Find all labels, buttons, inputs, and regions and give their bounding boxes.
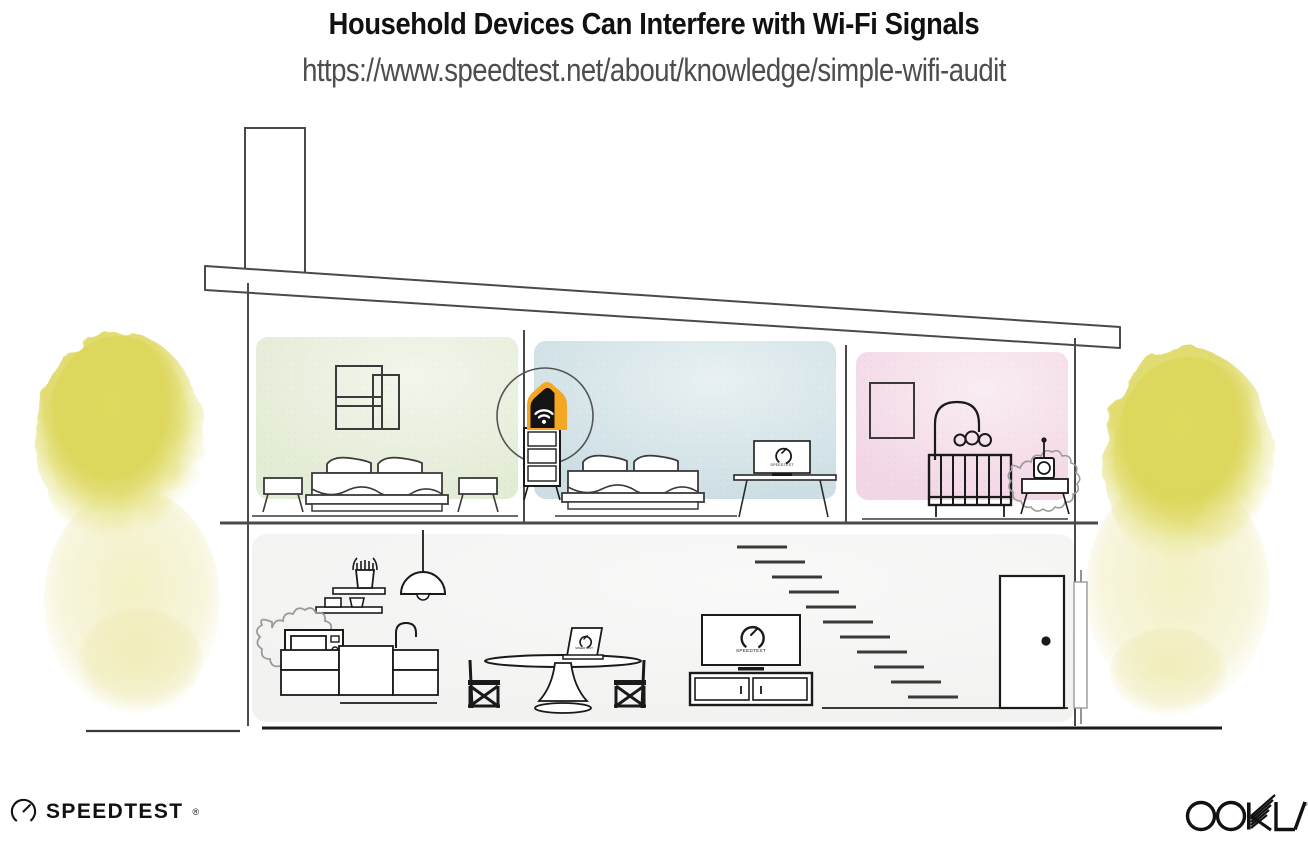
monitor-speedtest: SPEEDTEST	[754, 441, 810, 476]
sloped-roof-slab	[205, 266, 1120, 348]
speedtest-logo: SPEEDTEST ®	[10, 798, 199, 825]
ground-line	[86, 728, 1222, 731]
tree-right	[1086, 348, 1274, 716]
speedtest-gauge-icon	[10, 798, 37, 825]
ookla-logo: ®	[1183, 792, 1308, 843]
svg-text:®: ®	[1304, 801, 1308, 808]
house-illustration: SPEEDTEST	[0, 0, 1308, 861]
svg-text:SPEEDTEST: SPEEDTEST	[575, 646, 593, 650]
front-door[interactable]	[1000, 576, 1064, 708]
svg-text:SPEEDTEST: SPEEDTEST	[736, 648, 766, 653]
svg-text:SPEEDTEST: SPEEDTEST	[770, 463, 794, 467]
ookla-logo-icon: ®	[1183, 792, 1308, 838]
speedtest-wordmark: SPEEDTEST	[46, 800, 183, 824]
tree-left	[36, 332, 220, 712]
television-speedtest: SPEEDTEST	[702, 615, 800, 671]
door-knob-icon	[1041, 636, 1050, 645]
registered-mark: ®	[192, 807, 199, 817]
media-console	[690, 673, 812, 705]
side-window	[1074, 570, 1087, 724]
poster-canvas: Household Devices Can Interfere with Wi-…	[0, 0, 1308, 861]
chimney	[245, 128, 305, 280]
